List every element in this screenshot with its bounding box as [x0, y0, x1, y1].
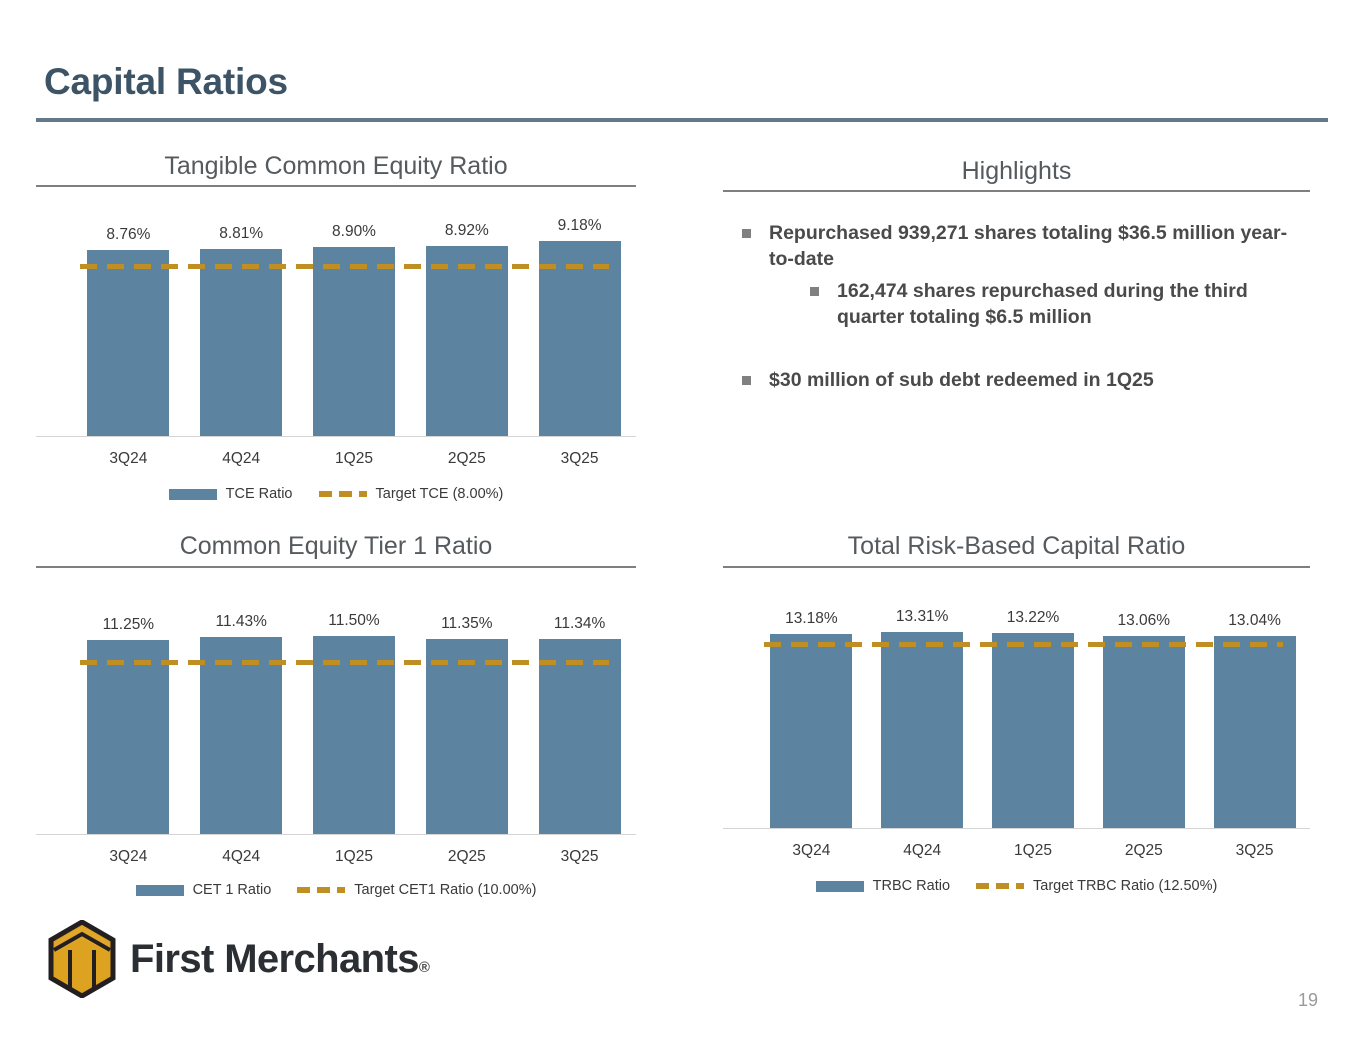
chart-cet1: 11.25%3Q2411.43%4Q2411.50%1Q2511.35%2Q25…	[36, 590, 636, 900]
legend-item-target: Target TRBC Ratio (12.50%)	[976, 878, 1217, 894]
bar-2Q25	[426, 639, 508, 834]
x-tick-label: 2Q25	[412, 450, 522, 468]
x-tick-label: 2Q25	[412, 848, 522, 866]
chart-legend: TRBC RatioTarget TRBC Ratio (12.50%)	[723, 878, 1310, 894]
x-axis-line	[723, 828, 1310, 829]
legend-item-target: Target CET1 Ratio (10.00%)	[297, 882, 536, 898]
legend-dash-swatch-icon	[319, 491, 367, 497]
panel-title-cet1: Common Equity Tier 1 Ratio	[36, 532, 636, 561]
bar-4Q24	[200, 249, 282, 436]
bar-1Q25	[992, 633, 1074, 828]
bullet-square-icon	[810, 287, 819, 296]
legend-item-series: CET 1 Ratio	[136, 882, 272, 898]
highlights-list: Repurchased 939,271 shares totaling $36.…	[742, 220, 1302, 399]
bar-1Q25	[313, 247, 395, 436]
list-item-label: 162,474 shares repurchased during the th…	[837, 278, 1302, 330]
target-threshold-line	[80, 660, 609, 665]
plot-area-tce: 8.76%3Q248.81%4Q248.90%1Q258.92%2Q259.18…	[36, 198, 636, 448]
legend-dash-swatch-icon	[297, 887, 345, 893]
panel-title-tce: Tangible Common Equity Ratio	[36, 152, 636, 181]
registered-mark-icon: ®	[419, 959, 429, 976]
bar-value-label: 13.06%	[1089, 612, 1199, 630]
x-tick-label: 3Q25	[1200, 842, 1310, 860]
x-tick-label: 3Q25	[525, 450, 635, 468]
target-threshold-line	[80, 264, 609, 269]
legend-target-label: Target TCE (8.00%)	[376, 486, 504, 502]
bar-value-label: 13.04%	[1200, 612, 1310, 630]
legend-item-series: TCE Ratio	[169, 486, 293, 502]
bar-value-label: 8.92%	[412, 222, 522, 240]
bar-value-label: 13.31%	[867, 608, 977, 626]
bar-3Q25	[539, 639, 621, 834]
x-tick-label: 3Q24	[756, 842, 866, 860]
chart-tce: 8.76%3Q248.81%4Q248.90%1Q258.92%2Q259.18…	[36, 198, 636, 508]
bullet-square-icon	[742, 376, 751, 385]
plot-area-cet1: 11.25%3Q2411.43%4Q2411.50%1Q2511.35%2Q25…	[36, 590, 636, 840]
panel-divider-cet1	[36, 566, 636, 568]
x-axis-line	[36, 436, 636, 437]
brand-name-text: First Merchants	[130, 937, 419, 981]
panel-title-trbc: Total Risk-Based Capital Ratio	[723, 532, 1310, 561]
plot-area-trbc: 13.18%3Q2413.31%4Q2413.22%1Q2513.06%2Q25…	[723, 590, 1310, 840]
list-item: $30 million of sub debt redeemed in 1Q25	[742, 367, 1302, 393]
legend-bar-swatch-icon	[816, 881, 864, 892]
bar-value-label: 11.25%	[73, 616, 183, 634]
chart-trbc: 13.18%3Q2413.31%4Q2413.22%1Q2513.06%2Q25…	[723, 590, 1310, 900]
panel-divider-tce	[36, 185, 636, 187]
legend-target-label: Target TRBC Ratio (12.50%)	[1033, 878, 1217, 894]
bar-4Q24	[881, 632, 963, 828]
x-tick-label: 4Q24	[867, 842, 977, 860]
panel-title-highlights: Highlights	[723, 157, 1310, 186]
bar-value-label: 13.22%	[978, 609, 1088, 627]
brand-logo: First Merchants®	[48, 920, 429, 998]
x-tick-label: 2Q25	[1089, 842, 1199, 860]
bar-value-label: 11.50%	[299, 612, 409, 630]
bar-value-label: 11.43%	[186, 613, 296, 631]
bar-3Q24	[87, 640, 169, 834]
bar-3Q24	[770, 634, 852, 828]
bar-value-label: 11.35%	[412, 615, 522, 633]
legend-target-label: Target CET1 Ratio (10.00%)	[354, 882, 536, 898]
list-item-label: Repurchased 939,271 shares totaling $36.…	[769, 220, 1302, 272]
legend-item-series: TRBC Ratio	[816, 878, 950, 894]
legend-series-label: CET 1 Ratio	[193, 882, 272, 898]
legend-series-label: TCE Ratio	[226, 486, 293, 502]
x-tick-label: 3Q24	[73, 450, 183, 468]
target-threshold-line	[764, 642, 1283, 647]
bar-3Q25	[539, 241, 621, 436]
bar-1Q25	[313, 636, 395, 834]
x-tick-label: 3Q25	[525, 848, 635, 866]
x-tick-label: 4Q24	[186, 848, 296, 866]
page-number: 19	[1298, 990, 1318, 1011]
bar-3Q25	[1214, 636, 1296, 828]
x-tick-label: 3Q24	[73, 848, 183, 866]
bullet-square-icon	[742, 229, 751, 238]
bar-value-label: 13.18%	[756, 610, 866, 628]
page-title: Capital Ratios	[44, 61, 288, 103]
x-tick-label: 1Q25	[299, 450, 409, 468]
hexagon-cube-icon	[48, 920, 116, 998]
bar-2Q25	[1103, 636, 1185, 828]
legend-bar-swatch-icon	[169, 489, 217, 500]
x-tick-label: 4Q24	[186, 450, 296, 468]
slide-canvas: Capital Ratios Tangible Common Equity Ra…	[0, 0, 1365, 1055]
bar-3Q24	[87, 250, 169, 436]
x-tick-label: 1Q25	[978, 842, 1088, 860]
panel-divider-trbc	[723, 566, 1310, 568]
legend-item-target: Target TCE (8.00%)	[319, 486, 504, 502]
bar-value-label: 8.76%	[73, 226, 183, 244]
legend-series-label: TRBC Ratio	[873, 878, 950, 894]
panel-divider-highlights	[723, 190, 1310, 192]
bar-2Q25	[426, 246, 508, 436]
x-tick-label: 1Q25	[299, 848, 409, 866]
legend-dash-swatch-icon	[976, 883, 1024, 889]
bar-value-label: 8.81%	[186, 225, 296, 243]
chart-legend: CET 1 RatioTarget CET1 Ratio (10.00%)	[36, 882, 636, 898]
chart-legend: TCE RatioTarget TCE (8.00%)	[36, 486, 636, 502]
x-axis-line	[36, 834, 636, 835]
title-divider	[36, 118, 1328, 122]
bar-4Q24	[200, 637, 282, 834]
list-item: Repurchased 939,271 shares totaling $36.…	[742, 220, 1302, 272]
list-item: 162,474 shares repurchased during the th…	[810, 278, 1302, 330]
spacer	[742, 337, 1302, 367]
brand-name: First Merchants®	[130, 937, 429, 982]
bar-value-label: 11.34%	[525, 615, 635, 633]
list-item-label: $30 million of sub debt redeemed in 1Q25	[769, 367, 1154, 393]
legend-bar-swatch-icon	[136, 885, 184, 896]
bar-value-label: 9.18%	[525, 217, 635, 235]
bar-value-label: 8.90%	[299, 223, 409, 241]
